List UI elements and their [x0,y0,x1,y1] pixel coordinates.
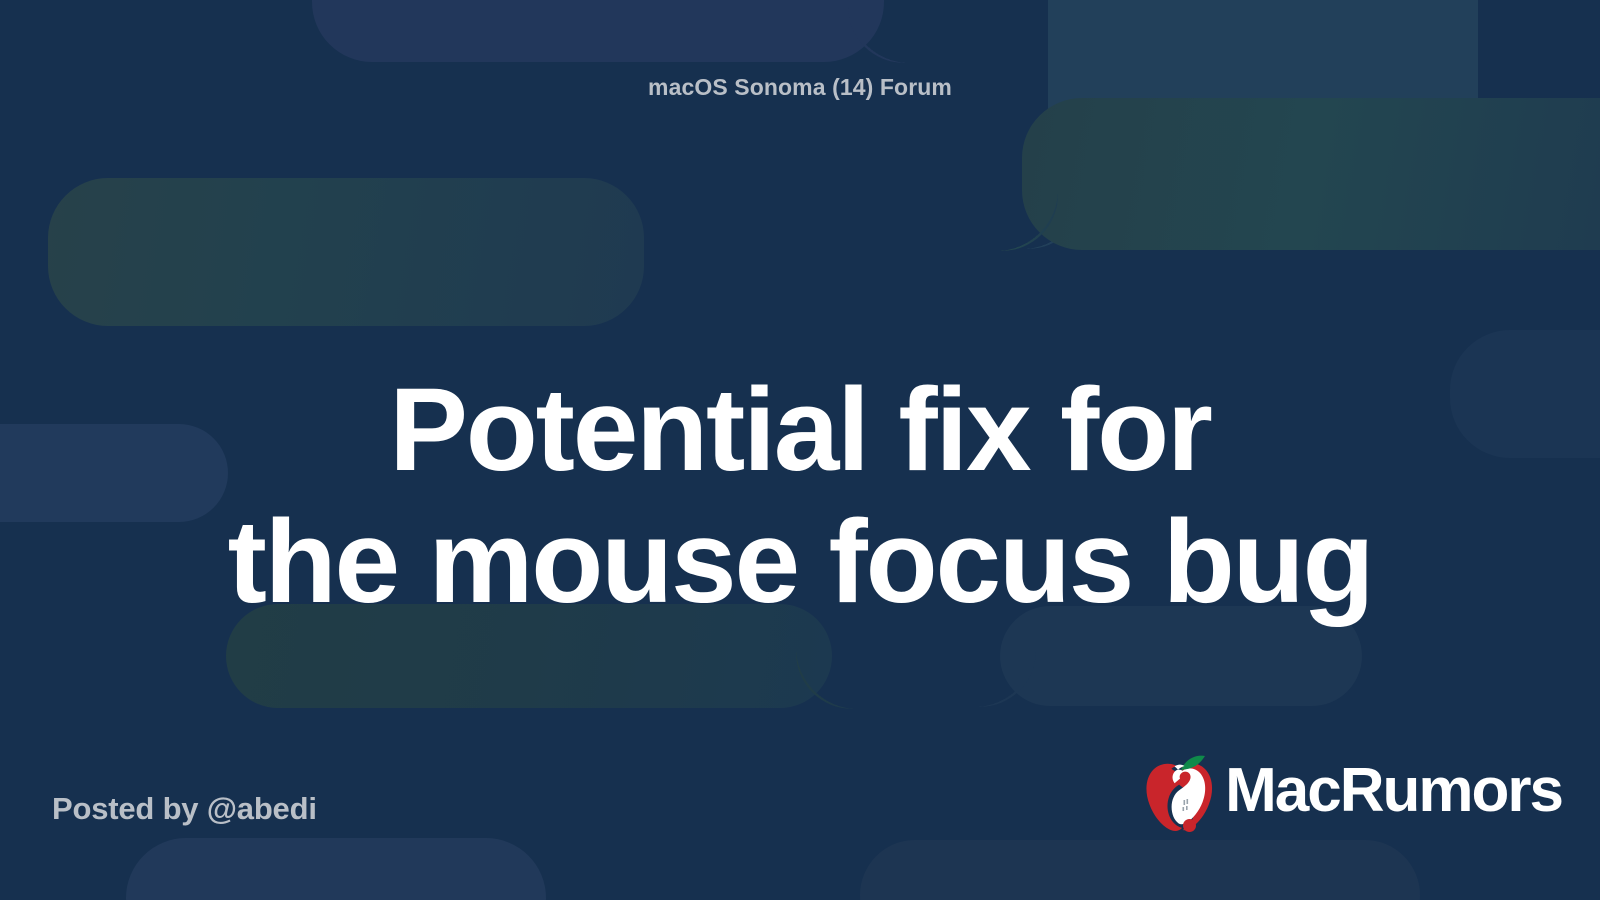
forum-name-label: macOS Sonoma (14) Forum [0,74,1600,101]
card-content: macOS Sonoma (14) Forum Potential fix fo… [0,0,1600,900]
page-title: Potential fix for the mouse focus bug [80,364,1520,628]
macrumors-logo: MacRumors [1141,750,1562,838]
macrumors-apple-logo-icon [1141,750,1219,838]
macrumors-wordmark: MacRumors [1225,760,1562,828]
page-title-line-1: Potential fix for [80,364,1520,496]
apple-dot [1183,819,1196,832]
share-card: macOS Sonoma (14) Forum Potential fix fo… [0,0,1600,900]
posted-by-label: Posted by @abedi [52,791,317,827]
page-title-line-2: the mouse focus bug [80,496,1520,628]
